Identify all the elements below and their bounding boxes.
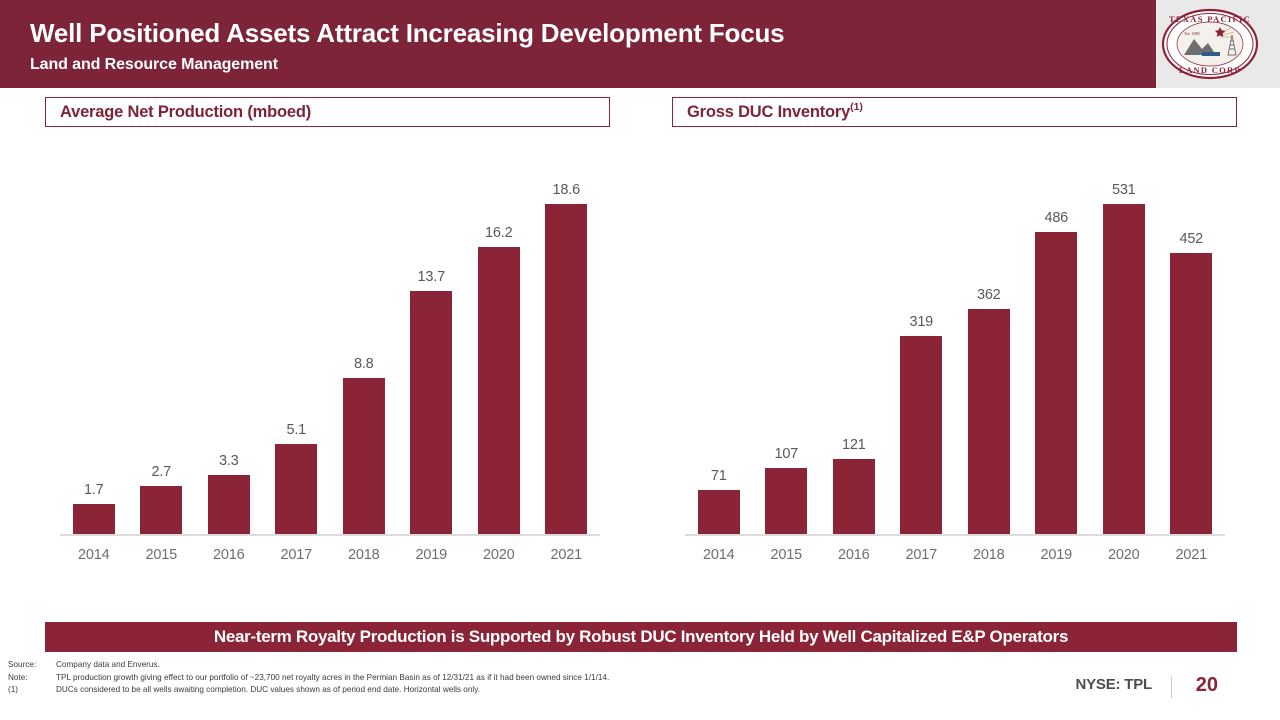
x-axis-tick-label: 2021	[533, 543, 601, 567]
x-axis-tick-label: 2016	[195, 543, 263, 567]
bar-value-label: 18.6	[553, 183, 580, 198]
key-takeaway-banner: Near-term Royalty Production is Supporte…	[45, 622, 1237, 652]
key-takeaway-text: Near-term Royalty Production is Supporte…	[214, 627, 1068, 647]
bar-value-label: 8.8	[354, 357, 374, 372]
chart-gross-duc-inventory: 71107121319362486531452 2014201520162017…	[685, 145, 1225, 610]
bar-value-label: 486	[1044, 211, 1068, 226]
bar-slot: 5.1	[263, 145, 331, 534]
x-axis-tick-label: 2018	[330, 543, 398, 567]
bar-value-label: 3.3	[219, 454, 239, 469]
bar	[698, 490, 740, 534]
bar-slot: 486	[1023, 145, 1091, 534]
bar-slot: 452	[1158, 145, 1226, 534]
bar-slot: 16.2	[465, 145, 533, 534]
bar	[343, 378, 385, 534]
bar-slot: 3.3	[195, 145, 263, 534]
x-axis-tick-label: 2015	[753, 543, 821, 567]
bar-value-label: 531	[1112, 183, 1136, 198]
bar	[73, 504, 115, 534]
x-axis-labels-right: 20142015201620172018201920202021	[685, 543, 1225, 567]
footnotes: Source:Company data and Enverus.Note:TPL…	[8, 659, 908, 697]
page-title: Well Positioned Assets Attract Increasin…	[30, 18, 784, 49]
footnote-label: (1)	[8, 684, 56, 696]
x-axis-tick-label: 2020	[465, 543, 533, 567]
bar	[1103, 204, 1145, 534]
logo-top-text: TEXAS PACIFIC	[1169, 14, 1251, 24]
bar-value-label: 5.1	[286, 423, 306, 438]
x-axis-line-right	[685, 534, 1225, 536]
bar	[140, 486, 182, 534]
plot-area-left: 1.72.73.35.18.813.716.218.6 201420152016…	[60, 145, 600, 573]
bar-slot: 362	[955, 145, 1023, 534]
logo-bottom-text: LAND CORP	[1179, 65, 1241, 75]
bar	[275, 444, 317, 534]
x-axis-tick-label: 2014	[685, 543, 753, 567]
x-axis-tick-label: 2019	[398, 543, 466, 567]
plot-area-right: 71107121319362486531452 2014201520162017…	[685, 145, 1225, 573]
x-axis-tick-label: 2018	[955, 543, 1023, 567]
page-separator	[1171, 676, 1172, 698]
bar-value-label: 121	[842, 438, 866, 453]
logo-est-text: Est. 1888	[1184, 31, 1199, 36]
x-axis-tick-label: 2016	[820, 543, 888, 567]
bar	[833, 459, 875, 534]
footnote-text: DUCs considered to be all wells awaiting…	[56, 684, 480, 696]
texas-pacific-land-corp-seal-icon: TEXAS PACIFIC LAND CORP Est. 1888	[1158, 5, 1262, 83]
footnote-label: Source:	[8, 659, 56, 671]
bar-group-left: 1.72.73.35.18.813.716.218.6	[60, 145, 600, 534]
bar	[208, 475, 250, 534]
x-axis-tick-label: 2014	[60, 543, 128, 567]
bar-slot: 107	[753, 145, 821, 534]
bar	[968, 309, 1010, 534]
bar-slot: 1.7	[60, 145, 128, 534]
bar-value-label: 362	[977, 288, 1001, 303]
footnote-text: TPL production growth giving effect to o…	[56, 672, 609, 684]
bar	[478, 247, 520, 534]
bar-slot: 8.8	[330, 145, 398, 534]
bar-value-label: 319	[909, 315, 933, 330]
bar-value-label: 71	[711, 469, 727, 484]
bar-slot: 319	[888, 145, 956, 534]
x-axis-tick-label: 2017	[263, 543, 331, 567]
bar-slot: 2.7	[128, 145, 196, 534]
bar	[765, 468, 807, 534]
bar-slot: 71	[685, 145, 753, 534]
slide-header: Well Positioned Assets Attract Increasin…	[0, 0, 1280, 88]
footnote-row: Source:Company data and Enverus.	[8, 659, 908, 671]
x-axis-line-left	[60, 534, 600, 536]
stock-ticker: NYSE: TPL	[1075, 676, 1152, 693]
x-axis-tick-label: 2021	[1158, 543, 1226, 567]
page-subtitle: Land and Resource Management	[30, 56, 278, 74]
bar-slot: 18.6	[533, 145, 601, 534]
bar-slot: 121	[820, 145, 888, 534]
slide: Well Positioned Assets Attract Increasin…	[0, 0, 1280, 720]
footnote-row: Note:TPL production growth giving effect…	[8, 672, 908, 684]
x-axis-labels-left: 20142015201620172018201920202021	[60, 543, 600, 567]
bar-value-label: 1.7	[84, 483, 104, 498]
chart-title-left: Average Net Production (mboed)	[45, 97, 610, 127]
bar-value-label: 107	[774, 447, 798, 462]
chart-title-right-superscript: (1)	[850, 101, 863, 113]
footnote-row: (1)DUCs considered to be all wells await…	[8, 684, 908, 696]
bar-value-label: 452	[1179, 232, 1203, 247]
bar-slot: 531	[1090, 145, 1158, 534]
chart-average-net-production: 1.72.73.35.18.813.716.218.6 201420152016…	[60, 145, 600, 610]
bar-value-label: 16.2	[485, 226, 512, 241]
chart-title-right-label: Gross DUC Inventory	[687, 103, 850, 122]
footnote-label: Note:	[8, 672, 56, 684]
chart-title-right: Gross DUC Inventory(1)	[672, 97, 1237, 127]
bar	[545, 204, 587, 534]
bar	[1170, 253, 1212, 534]
bar-slot: 13.7	[398, 145, 466, 534]
bar-value-label: 2.7	[151, 465, 171, 480]
bar-group-right: 71107121319362486531452	[685, 145, 1225, 534]
x-axis-tick-label: 2015	[128, 543, 196, 567]
page-number: 20	[1196, 674, 1218, 697]
x-axis-tick-label: 2020	[1090, 543, 1158, 567]
x-axis-tick-label: 2019	[1023, 543, 1091, 567]
chart-title-left-label: Average Net Production (mboed)	[60, 103, 311, 122]
bar-value-label: 13.7	[418, 270, 445, 285]
bar	[410, 291, 452, 534]
x-axis-tick-label: 2017	[888, 543, 956, 567]
footnote-text: Company data and Enverus.	[56, 659, 160, 671]
company-logo: TEXAS PACIFIC LAND CORP Est. 1888	[1158, 5, 1262, 83]
bar	[1035, 232, 1077, 534]
bar	[900, 336, 942, 534]
